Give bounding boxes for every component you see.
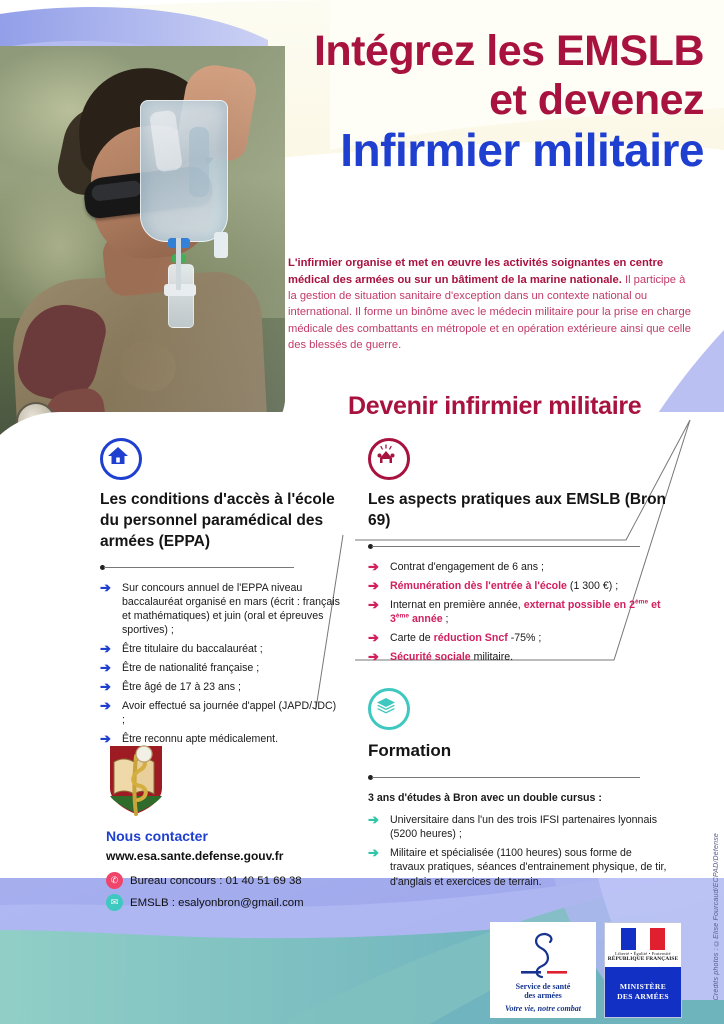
arrow-icon: ➔ (368, 560, 379, 574)
list-item: ➔Avoir effectué sa journée d'appel (JAPD… (100, 699, 340, 727)
intro-bold: L'infirmier organise et met en œuvre les… (288, 257, 663, 285)
logo-ministere-armees: Liberté • Égalité • Fraternité RÉPUBLIQU… (604, 922, 682, 1018)
bullet-text: Être âgé de 17 à 23 ans ; (122, 681, 241, 693)
practical-bullet-list: ➔Contrat d'engagement de 6 ans ; ➔Rémuné… (368, 560, 668, 664)
training-note: 3 ans d'études à Bron avec un double cur… (368, 792, 668, 804)
bullet-text: Sur concours annuel de l'EPPA niveau bac… (122, 582, 340, 636)
caduceus-icon (515, 930, 571, 982)
handshake-icon (368, 438, 410, 480)
arrow-icon: ➔ (368, 650, 379, 664)
ministry-line-2: DES ARMÉES (617, 992, 669, 1002)
list-item: ➔Être de nationalité française ; (100, 661, 340, 675)
practical-rule (368, 541, 668, 551)
bullet-text: Militaire et spécialisée (1100 heures) s… (390, 847, 666, 887)
ministry-line-1: MINISTÈRE (620, 982, 666, 992)
bullet-text: Sécurité sociale militaire. (390, 651, 513, 663)
list-item: ➔Sécurité sociale militaire. (368, 650, 668, 664)
ssa-line-1: Service de santé (516, 982, 571, 991)
list-item: ➔Militaire et spécialisée (1100 heures) … (368, 846, 668, 888)
bullet-text: Être de nationalité française ; (122, 662, 259, 674)
training-heading: Formation (368, 740, 668, 763)
arrow-icon: ➔ (368, 631, 379, 645)
intro-paragraph: L'infirmier organise et met en œuvre les… (288, 255, 696, 353)
section-title: Devenir infirmier militaire (348, 392, 641, 421)
poster-root: Intégrez les EMSLB et devenez Infirmier … (0, 0, 724, 1024)
arrow-icon: ➔ (100, 661, 111, 675)
column-practical-aspects: Les aspects pratiques aux EMSLB (Bron 69… (368, 438, 668, 894)
practical-heading: Les aspects pratiques aux EMSLB (Bron 69… (368, 490, 668, 532)
list-item: ➔Rémunération dès l'entrée à l'école (1 … (368, 579, 668, 593)
training-rule (368, 772, 668, 782)
logo-service-sante-armees: Service de santédes armées Votre vie, no… (490, 922, 596, 1018)
list-item: ➔Universitaire dans l'un des trois IFSI … (368, 813, 668, 841)
list-item: ➔Contrat d'engagement de 6 ans ; (368, 560, 668, 574)
bullet-text: Contrat d'engagement de 6 ans ; (390, 561, 544, 573)
access-rule (100, 562, 340, 572)
list-item: ➔Être âgé de 17 à 23 ans ; (100, 680, 340, 694)
headline-line-2: et devenez (184, 79, 704, 122)
list-item: ➔Internat en première année, externat po… (368, 598, 668, 626)
access-bullet-list: ➔Sur concours annuel de l'EPPA niveau ba… (100, 581, 340, 747)
rf-name: RÉPUBLIQUE FRANÇAISE (608, 956, 678, 962)
column-training: Formation 3 ans d'études à Bron avec un … (368, 688, 668, 888)
arrow-icon: ➔ (100, 581, 111, 595)
column-access-conditions: Les conditions d'accès à l'école du pers… (100, 438, 340, 752)
contact-title: Nous contacter (106, 828, 406, 844)
photo-credits: Crédits photos : ©Elise Fourcaud/ECPAD/D… (713, 833, 720, 1000)
training-bullet-list: ➔Universitaire dans l'un des trois IFSI … (368, 813, 668, 888)
bullet-text: Être titulaire du baccalauréat ; (122, 643, 263, 655)
layers-icon (368, 688, 410, 730)
arrow-icon: ➔ (100, 680, 111, 694)
arrow-icon: ➔ (100, 642, 111, 656)
contact-website[interactable]: www.esa.sante.defense.gouv.fr (106, 849, 406, 863)
list-item: ➔Sur concours annuel de l'EPPA niveau ba… (100, 581, 340, 637)
bullet-text: Rémunération dès l'entrée à l'école (1 3… (390, 580, 618, 592)
house-icon (100, 438, 142, 480)
mail-icon: ✉ (106, 894, 123, 911)
french-flag-icon (621, 928, 665, 950)
contact-email-label: EMSLB : esalyonbron@gmail.com (130, 897, 304, 909)
bullet-text: Internat en première année, externat pos… (390, 599, 661, 625)
arrow-icon: ➔ (100, 699, 111, 713)
headline-line-1: Intégrez les EMSLB (184, 30, 704, 73)
list-item: ➔Carte de réduction Sncf -75% ; (368, 631, 668, 645)
contact-email-row[interactable]: ✉ EMSLB : esalyonbron@gmail.com (106, 894, 406, 911)
arrow-icon: ➔ (368, 579, 379, 593)
phone-icon: ✆ (106, 872, 123, 889)
poster-headline: Intégrez les EMSLB et devenez Infirmier … (184, 30, 704, 173)
contact-phone-label: Bureau concours : 01 40 51 69 38 (130, 875, 302, 887)
bullet-text: Carte de réduction Sncf -75% ; (390, 632, 541, 644)
ssa-line-2: des armées (524, 991, 562, 1000)
list-item: ➔Être titulaire du baccalauréat ; (100, 642, 340, 656)
arrow-icon: ➔ (368, 813, 379, 827)
contact-block: Nous contacter www.esa.sante.defense.gou… (106, 828, 406, 916)
arrow-icon: ➔ (368, 598, 379, 612)
eppa-emblem-icon (100, 740, 172, 818)
ssa-tagline: Votre vie, notre combat (505, 1004, 581, 1013)
bullet-text: Universitaire dans l'un des trois IFSI p… (390, 814, 657, 840)
contact-phone-row[interactable]: ✆ Bureau concours : 01 40 51 69 38 (106, 872, 406, 889)
bullet-text: Avoir effectué sa journée d'appel (JAPD/… (122, 700, 336, 726)
access-heading: Les conditions d'accès à l'école du pers… (100, 490, 340, 553)
headline-line-3: Infirmier militaire (184, 127, 704, 173)
